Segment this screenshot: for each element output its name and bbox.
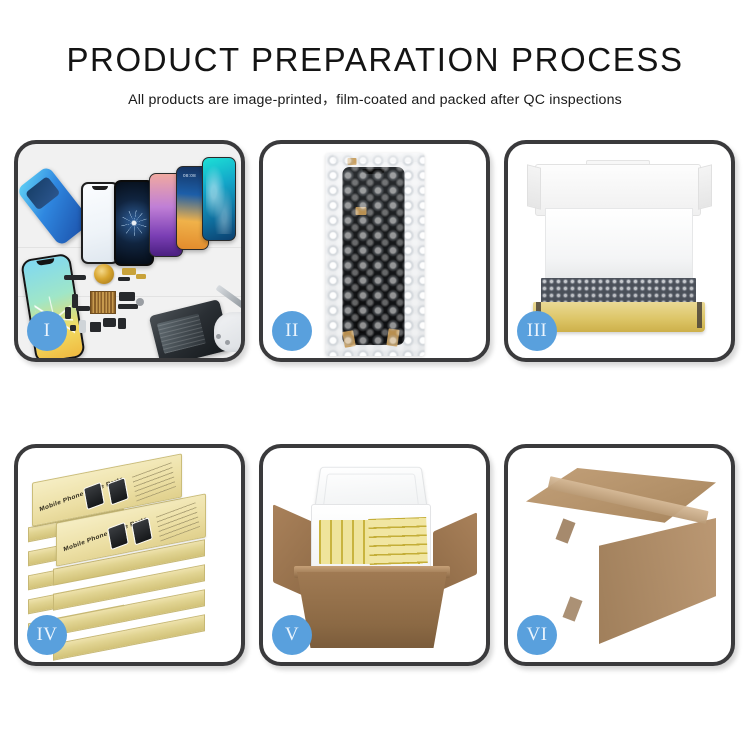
small-bar-part bbox=[64, 275, 86, 280]
sealed-carton-image bbox=[526, 468, 716, 648]
tape-piece-bottom-right bbox=[386, 328, 399, 346]
screw-part-b bbox=[216, 334, 221, 339]
tape-piece-bottom-left bbox=[342, 330, 356, 348]
gold-connector-part bbox=[122, 268, 136, 275]
product-preparation-process-page: PRODUCT PREPARATION PROCESS All products… bbox=[0, 0, 750, 750]
battery-part bbox=[103, 318, 116, 327]
carton-body bbox=[297, 572, 447, 648]
antenna-strip-part bbox=[118, 304, 138, 309]
process-step-panel-1[interactable]: 08:08 bbox=[14, 140, 245, 362]
process-step-panel-2[interactable]: II bbox=[259, 140, 490, 362]
gold-flex-part bbox=[136, 274, 146, 279]
box-screen-thumb-b2 bbox=[131, 517, 153, 545]
speaker-coil-part bbox=[94, 264, 114, 284]
process-step-panel-5[interactable]: V bbox=[259, 444, 490, 666]
vibrator-part bbox=[118, 318, 126, 329]
step-badge-4: IV bbox=[27, 615, 67, 655]
yellow-boxes-row-2 bbox=[368, 517, 428, 565]
bracket-part-b bbox=[76, 306, 90, 311]
phone-display-cracked-image bbox=[114, 180, 154, 266]
box-feature-list-1 bbox=[132, 462, 176, 501]
sim-tray-part bbox=[79, 320, 86, 333]
ring-part bbox=[136, 298, 144, 306]
flex-cable-image bbox=[355, 213, 365, 333]
bracket-part-c bbox=[65, 307, 71, 319]
step-badge-1: I bbox=[27, 311, 67, 351]
process-step-grid: 08:08 bbox=[14, 140, 736, 666]
header: PRODUCT PREPARATION PROCESS All products… bbox=[0, 0, 750, 109]
box-lid-left bbox=[527, 164, 541, 209]
screw-part-c bbox=[225, 340, 230, 345]
bag-lip bbox=[333, 153, 419, 162]
lcd-screen-image bbox=[342, 167, 404, 345]
page-title: PRODUCT PREPARATION PROCESS bbox=[0, 42, 750, 78]
gloved-hand-image bbox=[214, 312, 241, 352]
screw-part-a bbox=[70, 325, 76, 331]
step-badge-3: III bbox=[517, 311, 557, 351]
box-feature-list-2 bbox=[156, 502, 200, 541]
speaker-box-part bbox=[90, 322, 101, 332]
foam-sheet-image bbox=[545, 208, 693, 280]
bubble-wrap-bag-image bbox=[325, 153, 424, 356]
inner-box-image bbox=[524, 160, 715, 342]
box-screen-thumb-b1 bbox=[107, 477, 129, 505]
phone-teal-image bbox=[202, 157, 236, 241]
camera-module-part bbox=[119, 292, 135, 301]
tape-piece-top bbox=[347, 158, 356, 165]
step-badge-2: II bbox=[272, 311, 312, 351]
page-subtitle: All products are image-printed，film-coat… bbox=[0, 89, 750, 109]
box-screen-thumb-a1 bbox=[83, 482, 105, 510]
process-step-panel-4[interactable]: Mobile Phone Spare Parts Mobile Phone Sp… bbox=[14, 444, 245, 666]
yellow-box-tray bbox=[533, 302, 705, 332]
tape-piece-mid bbox=[355, 207, 366, 215]
process-step-panel-3[interactable]: III bbox=[504, 140, 735, 362]
step-badge-5: V bbox=[272, 615, 312, 655]
process-step-panel-6[interactable]: VI bbox=[504, 444, 735, 666]
chip-array-part bbox=[90, 291, 116, 314]
box-lid-right bbox=[698, 164, 712, 209]
box-screen-thumb-a2 bbox=[107, 522, 129, 550]
carton-side-face bbox=[599, 518, 716, 644]
flex-cable-part bbox=[118, 277, 130, 281]
step-badge-6: VI bbox=[517, 615, 557, 655]
